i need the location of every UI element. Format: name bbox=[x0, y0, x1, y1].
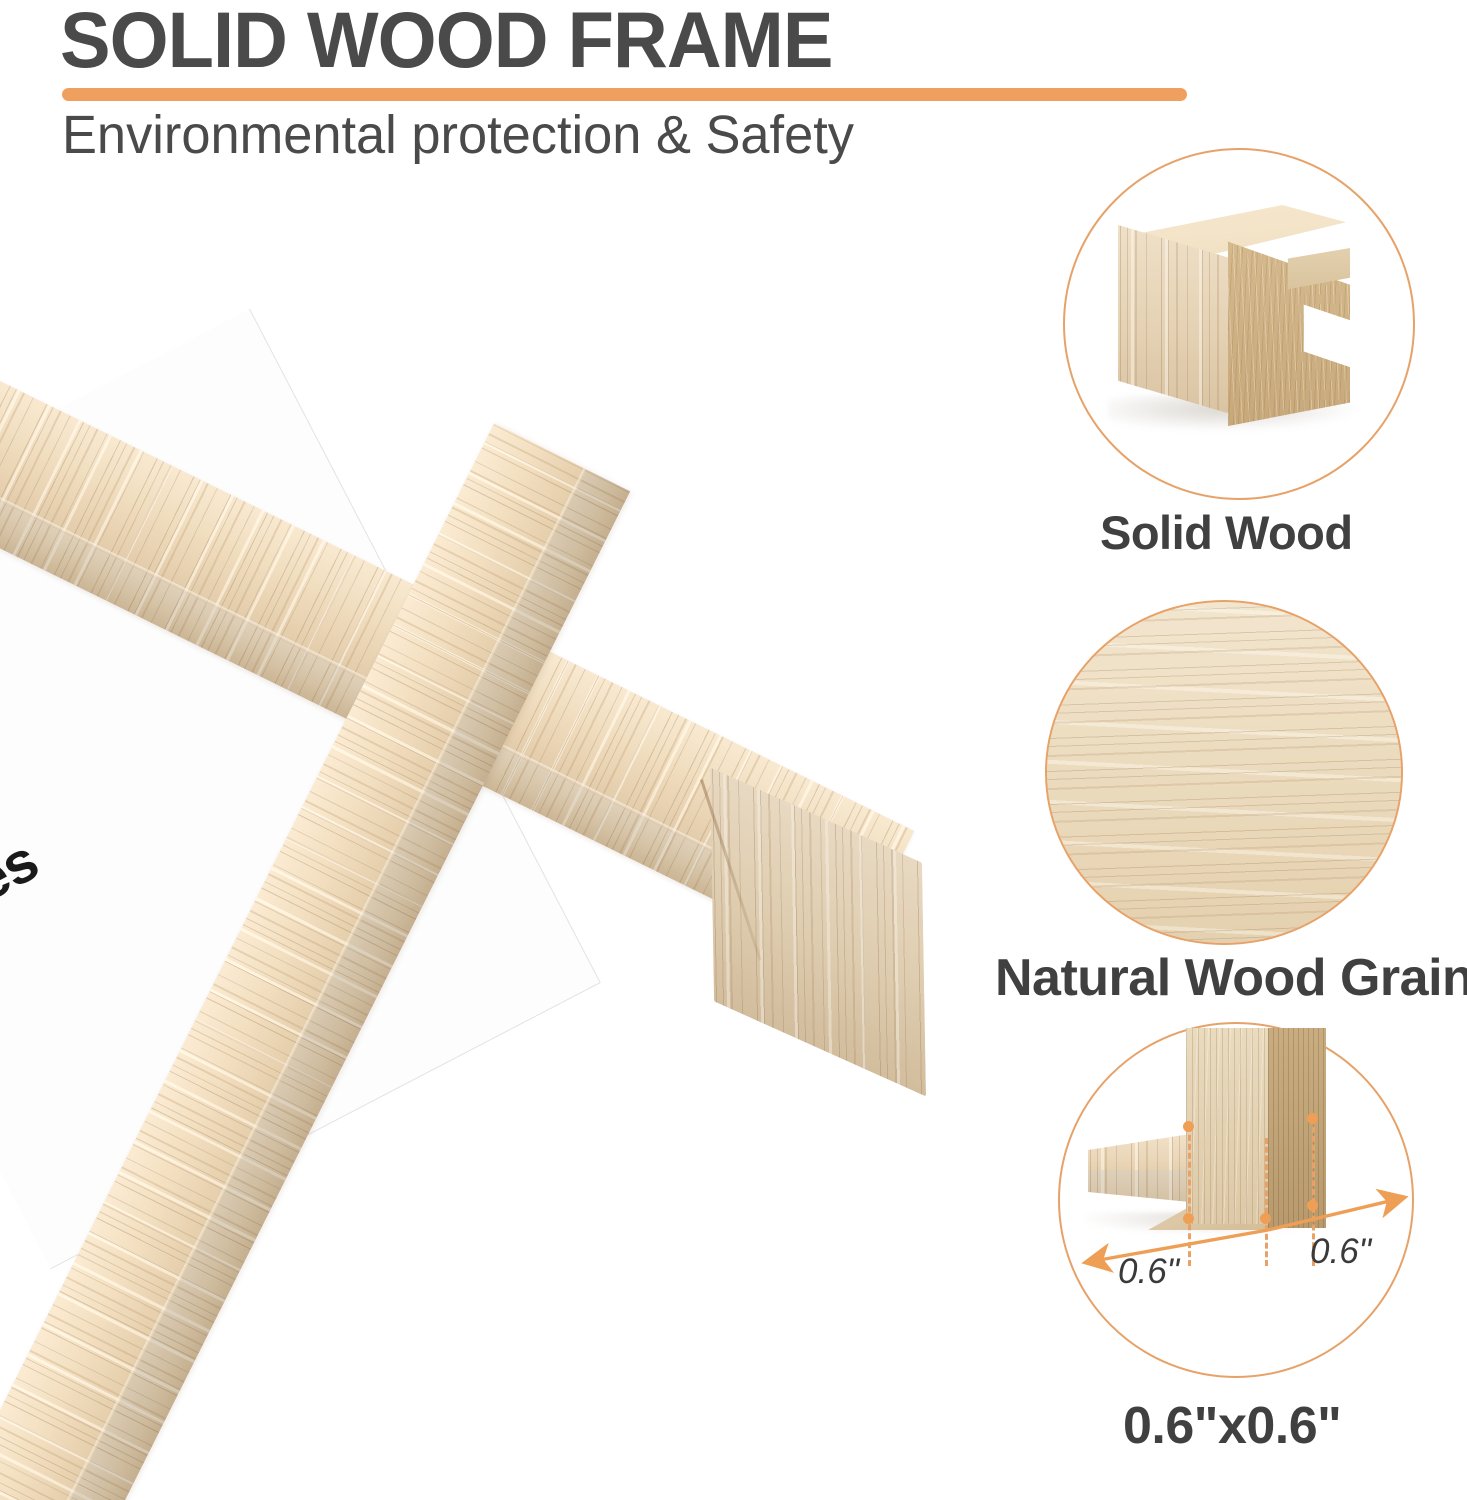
dimension-point-a bbox=[1183, 1121, 1194, 1132]
callout-circle-outline bbox=[1045, 600, 1403, 945]
dimension-label-right: 0.6" bbox=[1310, 1232, 1371, 1272]
dimension-point-c bbox=[1260, 1213, 1271, 1224]
frame-corner-end-face bbox=[710, 768, 926, 1097]
product-feature-image: SOLID WOOD FRAME Environmental protectio… bbox=[0, 0, 1467, 1500]
dimension-point-e bbox=[1307, 1200, 1318, 1211]
title-underline-rule bbox=[62, 88, 1187, 101]
callout-caption-natural-wood-grain: Natural Wood Grain bbox=[995, 948, 1467, 1008]
frame-corner-photo: les bbox=[0, 140, 1010, 1500]
callout-caption-solid-wood: Solid Wood bbox=[1100, 505, 1353, 560]
corner-vertical-post-front bbox=[1186, 1028, 1274, 1224]
page-title: SOLID WOOD FRAME bbox=[60, 0, 832, 84]
dimension-point-b bbox=[1183, 1213, 1194, 1224]
corner-vertical-post-side bbox=[1268, 1028, 1326, 1228]
callout-caption-dimensions: 0.6"x0.6" bbox=[1123, 1396, 1341, 1456]
dimension-label-left: 0.6" bbox=[1118, 1252, 1179, 1292]
dimension-point-d bbox=[1307, 1113, 1318, 1124]
